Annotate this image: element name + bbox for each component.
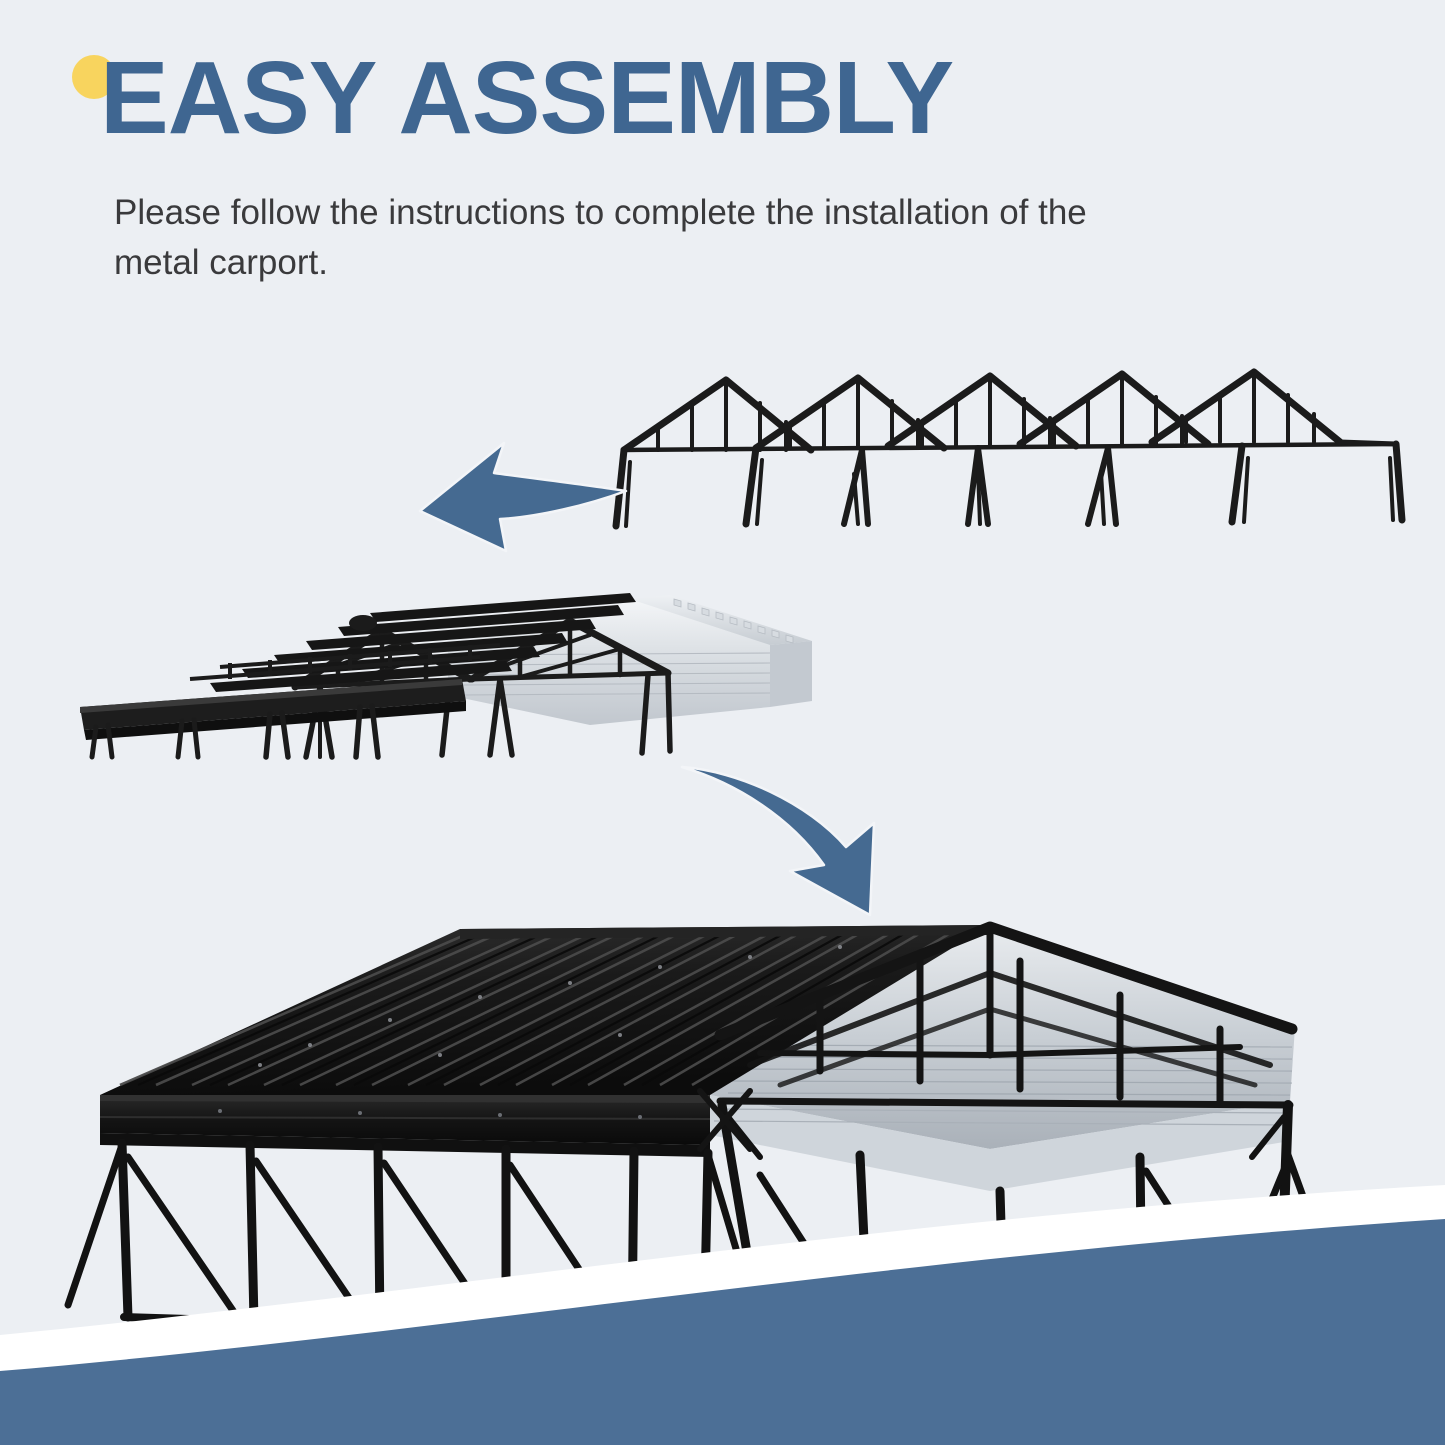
roof-assembly-illustration: [70, 575, 850, 760]
arrow-step1-to-step2-icon: [398, 425, 628, 560]
step-2-roof-panel-installation: [70, 575, 850, 760]
page-title: EASY ASSEMBLY: [100, 46, 953, 149]
header-block: EASY ASSEMBLY Please follow the instruct…: [0, 0, 1445, 300]
bottom-wave-decoration: [0, 1185, 1445, 1445]
front-fascia: [100, 1095, 710, 1157]
page-subtitle: Please follow the instructions to comple…: [114, 188, 1134, 287]
truss-frame-illustration: [596, 358, 1416, 538]
step-1-roof-truss-frame: [596, 358, 1416, 538]
infographic-page: EASY ASSEMBLY Please follow the instruct…: [0, 0, 1445, 1445]
arrow-step2-to-step3-icon: [678, 755, 918, 915]
